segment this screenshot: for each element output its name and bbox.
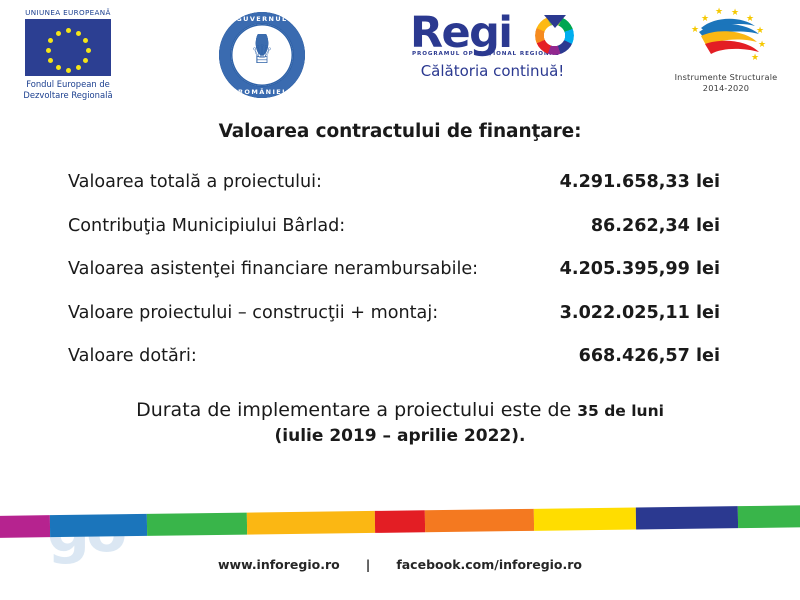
stripe-segment-7: [636, 506, 739, 529]
seal-word-bottom: ROMÂNIEI: [219, 88, 305, 96]
stripe-segment-4: [374, 510, 424, 533]
eu-flag-icon: [25, 19, 111, 76]
finance-row-label: Contribuţia Municipiului Bârlad:: [68, 216, 345, 236]
finance-row: Valoarea asistenţei financiare neramburs…: [68, 259, 720, 303]
finance-row-value: 3.022.025,11 lei: [560, 303, 720, 323]
duration-text: Durata de implementare a proiectului est…: [136, 399, 577, 421]
eu-logo-caption-top: UNIUNEA EUROPEANĂ: [13, 8, 123, 17]
regio-logo: Regi PROGRAMUL OPERAȚIONAL REGIONAL Călă…: [405, 10, 590, 102]
footer-links: www.inforegio.ro|facebook.com/inforegio.…: [0, 557, 800, 572]
structural-caption-line2: 2014-2020: [668, 83, 784, 94]
page-title: Valoarea contractului de finanţare:: [0, 121, 800, 142]
finance-row-value: 4.291.658,33 lei: [560, 172, 720, 192]
finance-row: Valoare proiectului – construcţii + mont…: [68, 303, 720, 347]
stripe-segment-5: [425, 509, 535, 532]
finance-row-label: Valoarea totală a proiectului:: [68, 172, 322, 192]
structural-caption: Instrumente Structurale 2014-2020: [668, 72, 784, 94]
stripe-segment-8: [738, 505, 800, 528]
finance-row-label: Valoarea asistenţei financiare neramburs…: [68, 259, 478, 279]
regio-triangle-icon: [544, 15, 566, 28]
website-link[interactable]: www.inforegio.ro: [218, 557, 340, 572]
structural-emblem-icon: ★ ★ ★ ★ ★ ★ ★ ★: [671, 6, 781, 72]
stripe-segment-2: [147, 513, 247, 536]
implementation-duration: Durata de implementare a proiectului est…: [0, 397, 800, 424]
eu-logo-caption-bottom: Fondul European de Dezvoltare Regională: [9, 79, 127, 101]
government-of-romania-logo: GUVERNUL ROMÂNIEI ♕: [216, 10, 308, 102]
stripe-segment-6: [534, 507, 636, 530]
finance-row: Valoare dotări: 668.426,57 lei: [68, 346, 720, 390]
romania-swoosh-icon: [671, 6, 781, 72]
eu-caption-line2: Dezvoltare Regională: [9, 90, 127, 101]
finance-row: Valoarea totală a proiectului: 4.291.658…: [68, 172, 720, 216]
finance-row-value: 668.426,57 lei: [579, 346, 720, 366]
logo-bar: UNIUNEA EUROPEANĂ Fondul European de Dez…: [0, 0, 800, 110]
finance-rows: Valoarea totală a proiectului: 4.291.658…: [68, 172, 720, 390]
government-seal-icon: GUVERNUL ROMÂNIEI ♕: [219, 12, 305, 98]
structural-caption-line1: Instrumente Structurale: [668, 72, 784, 83]
finance-row: Contribuţia Municipiului Bârlad: 86.262,…: [68, 216, 720, 260]
seal-word-top: GUVERNUL: [219, 15, 305, 23]
footer-separator: |: [340, 557, 397, 572]
stripe-segment-0: [0, 515, 50, 538]
regio-wordmark-text: Regi: [410, 8, 511, 58]
stripe-segment-1: [50, 514, 147, 537]
stripe-segment-3: [247, 511, 375, 535]
regio-slogan: Călătoria continuă!: [405, 62, 590, 80]
facebook-link[interactable]: facebook.com/inforegio.ro: [396, 557, 582, 572]
eu-logo: UNIUNEA EUROPEANĂ Fondul European de Dez…: [8, 8, 128, 100]
finance-row-label: Valoare proiectului – construcţii + mont…: [68, 303, 438, 323]
eu-caption-line1: Fondul European de: [9, 79, 127, 90]
structural-instruments-logo: ★ ★ ★ ★ ★ ★ ★ ★ Instrumente Structurale …: [668, 6, 784, 102]
implementation-period: (iulie 2019 – aprilie 2022).: [0, 426, 800, 446]
finance-row-value: 86.262,34 lei: [591, 216, 720, 236]
finance-row-value: 4.205.395,99 lei: [560, 259, 720, 279]
eagle-crest-icon: ♕: [245, 34, 279, 76]
regio-wordmark: Regi: [405, 10, 590, 56]
duration-months: 35 de luni: [577, 402, 664, 420]
finance-row-label: Valoare dotări:: [68, 346, 197, 366]
